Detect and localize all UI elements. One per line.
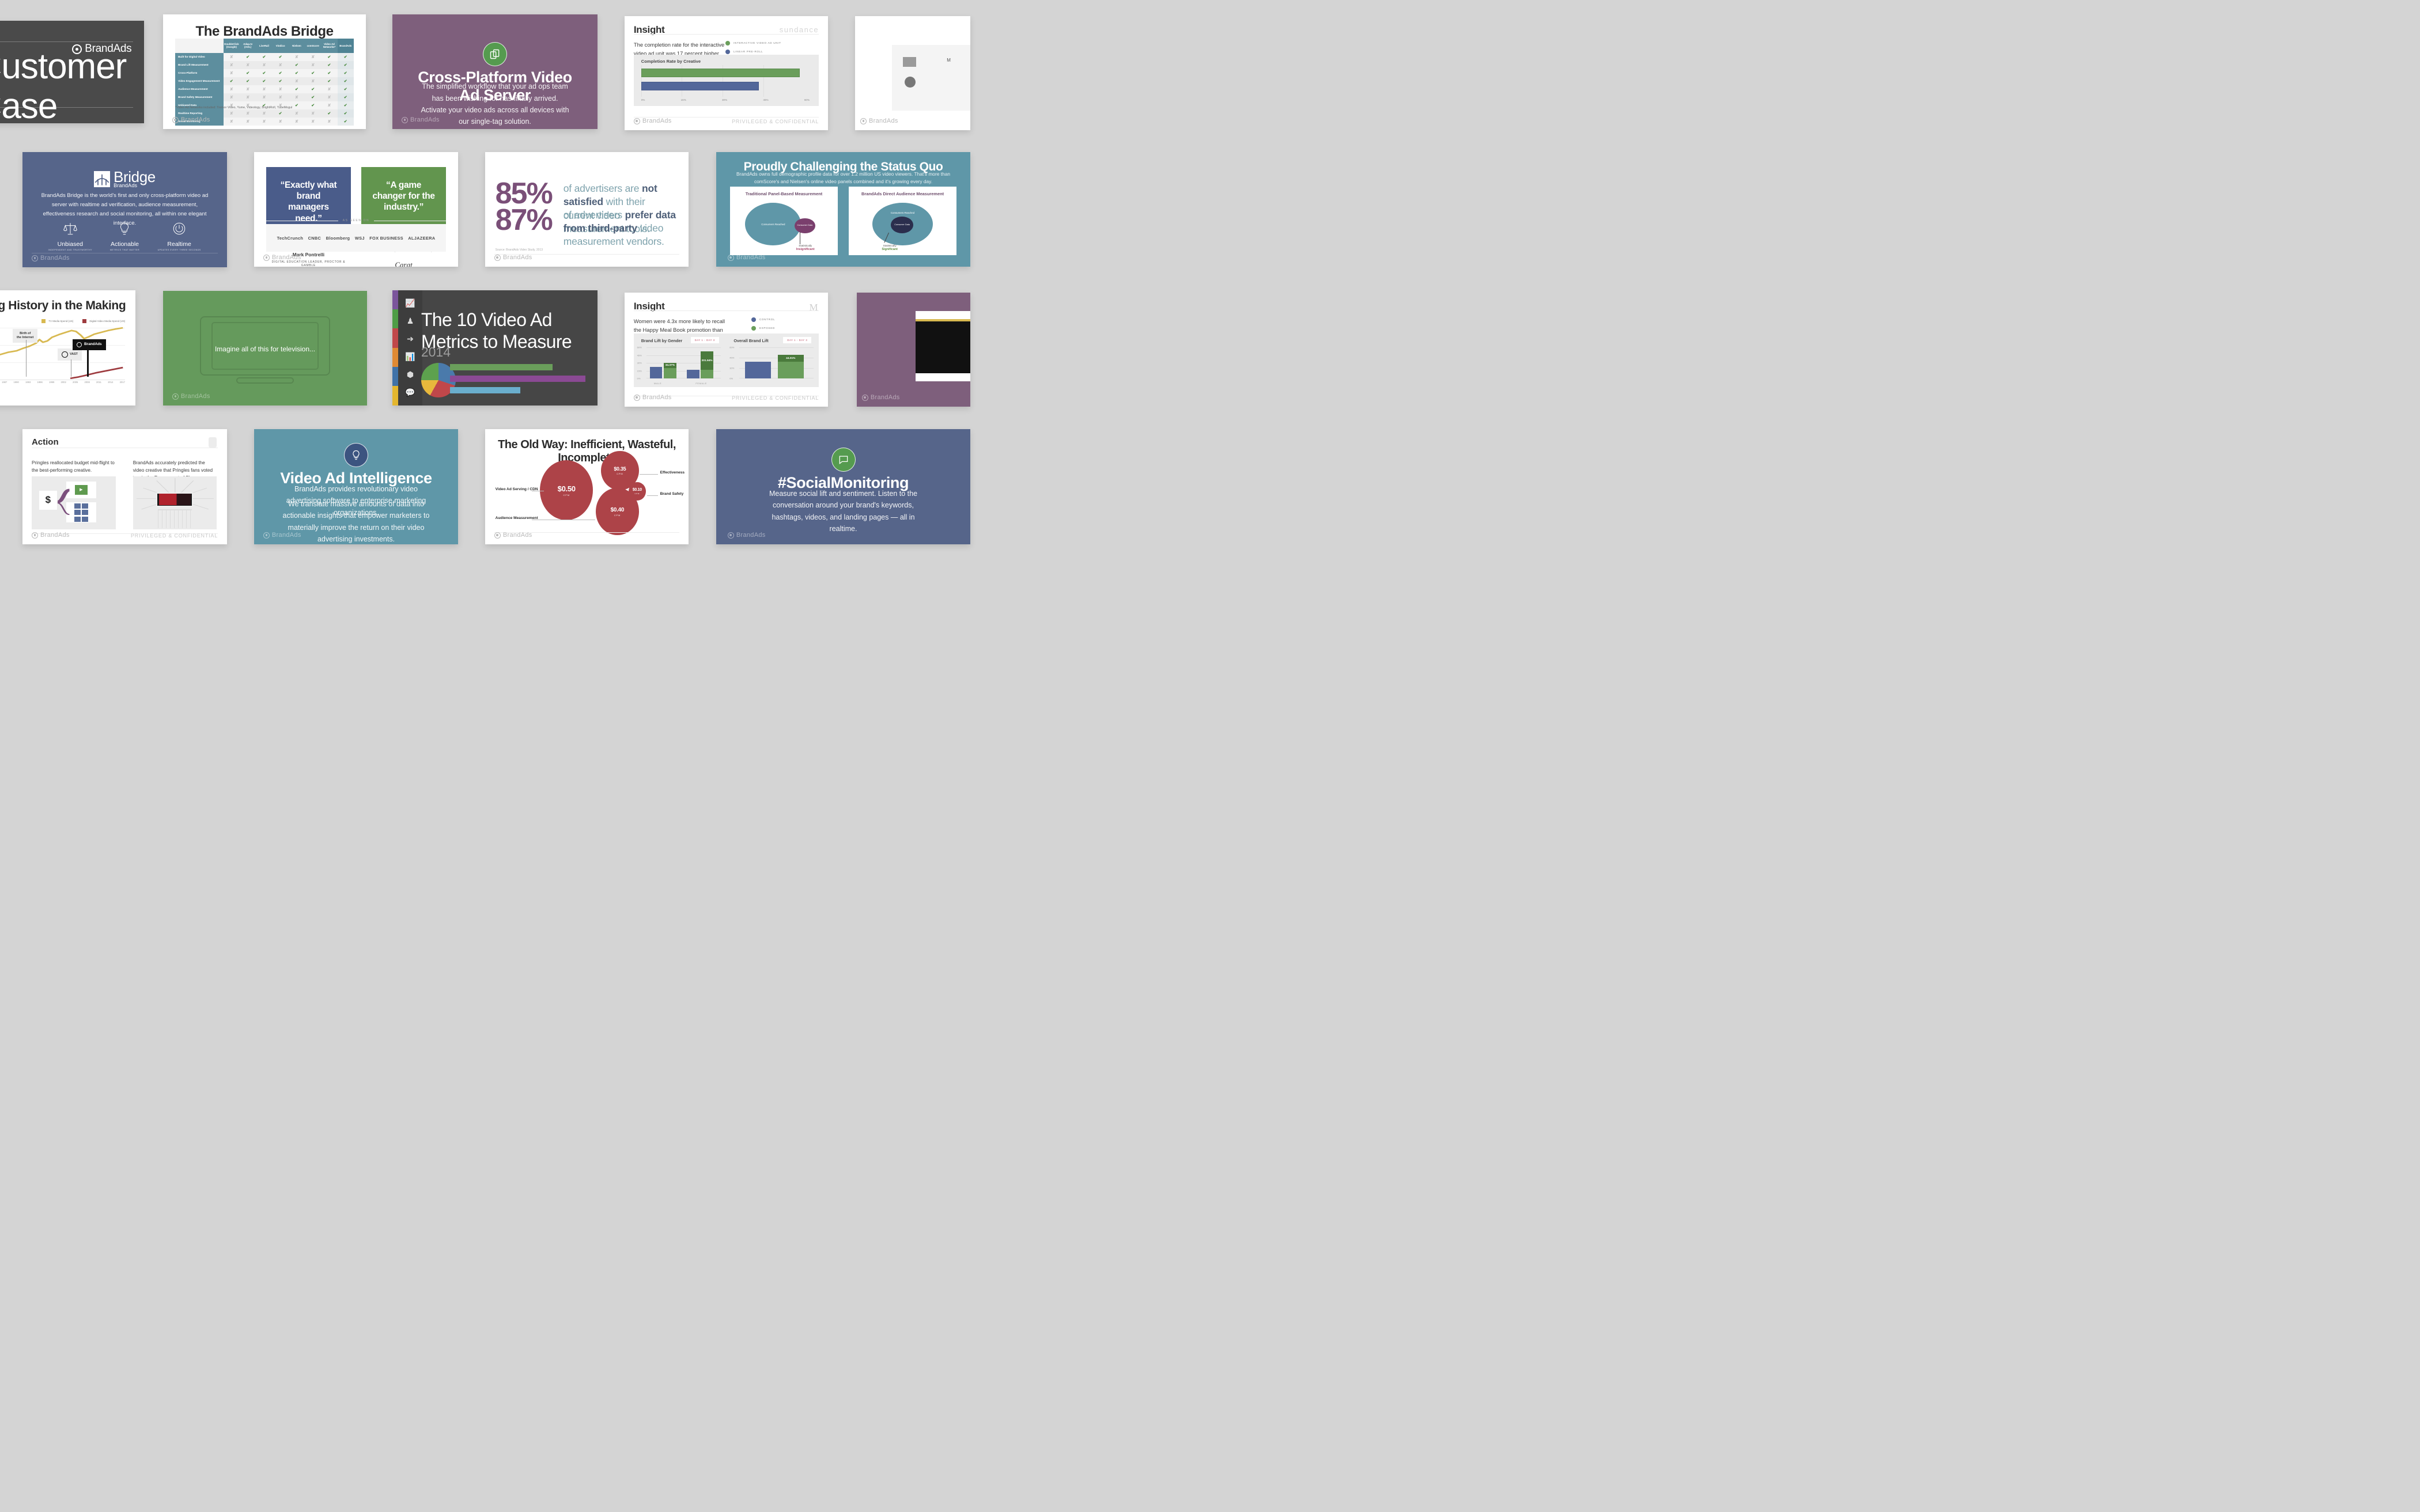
panel-text: M: [947, 58, 951, 63]
table-cell: ✔: [273, 69, 289, 77]
page-title: The Old Way: Inefficient, Wasteful, Inco…: [497, 438, 676, 465]
pillar-title: Realtime: [155, 241, 204, 248]
speech-bubble-icon: [831, 448, 856, 472]
bar-chart-icon[interactable]: 📊: [405, 352, 415, 362]
bubble-unit: CPM: [564, 494, 570, 497]
plot-area: 60% 45% 30% 15% 0% 34.37% 201.94%: [646, 347, 721, 378]
check-icon: ✔: [295, 71, 298, 75]
brandads-ring-icon: [634, 118, 640, 124]
axis-tick: 0%: [641, 98, 645, 101]
stat-text: of advertisers prefer data from third-pa…: [564, 206, 676, 249]
budget-reallocation-illustration: $ ▶: [32, 476, 116, 529]
table-cell: ✘: [256, 93, 272, 101]
table-cell: ✔: [256, 53, 272, 61]
slide-thumbnail-video-ad-intelligence[interactable]: Video Ad Intelligence BrandAds provides …: [254, 429, 458, 544]
cross-icon: ✘: [230, 120, 233, 124]
date-range-badge[interactable]: DAY 1 - DAY 3: [691, 337, 719, 343]
cross-icon: ✘: [279, 88, 282, 92]
shield-icon[interactable]: ⬢: [407, 370, 414, 380]
panel-brandads-direct: BrandAds Direct Audience Measurement Con…: [849, 187, 956, 255]
check-icon: ✔: [311, 104, 315, 108]
axis-tick: 45%: [763, 98, 768, 101]
legend-label: TV Media Spend (US): [48, 320, 73, 323]
table-row-label: Video Engagement Measurement: [175, 77, 224, 85]
slide-thumbnail-bridge[interactable]: Bridge BrandAds BrandAds Bridge is the w…: [22, 152, 227, 267]
cross-icon: ✘: [230, 71, 233, 75]
brandads-ring-icon: [728, 255, 734, 261]
cross-icon: ✘: [246, 88, 249, 92]
bar-series-3: [450, 387, 520, 393]
slide-thumbnail-partial-right-row1[interactable]: M BrandAds: [855, 16, 970, 130]
slide-thumbnail-customer-quotes[interactable]: “Exactly what brand managers need.” Mark…: [254, 152, 458, 267]
footer-brand-label: BrandAds: [642, 118, 672, 124]
table-cell: ✔: [321, 53, 337, 61]
x-axis-ticks: 1969197219751978198119841987199019931996…: [0, 381, 125, 384]
pillar-actionable: Actionable METRICS THAT MATTER: [100, 221, 149, 251]
cross-icon: ✘: [328, 96, 331, 100]
brandads-ring-icon: [32, 532, 38, 539]
footer-brand-label: BrandAds: [736, 254, 766, 261]
table-header-row: DoubleClick (Google) Adap.tv (AOL) LiveR…: [175, 39, 354, 53]
chart-brand-lift-by-gender: Brand Lift by Gender DAY 1 - DAY 3 60% 4…: [634, 334, 727, 387]
slide-thumbnail-insight-sundance[interactable]: Insight sundance The completion rate for…: [625, 16, 828, 130]
check-icon: ✔: [344, 96, 347, 100]
table-cell: ✘: [273, 61, 289, 69]
screen-accent-bar: [916, 319, 970, 321]
table-cell: ✘: [305, 118, 321, 126]
footer-brand: BrandAds: [172, 393, 210, 400]
footer-brand-label: BrandAds: [642, 394, 672, 401]
note-line-2: Insignificant: [782, 248, 829, 252]
table-cell: ✔: [240, 53, 256, 61]
legend-swatch: [751, 326, 756, 331]
bar-overall-exposed: 44.01%: [778, 355, 804, 378]
axis-tick: 45%: [637, 354, 642, 357]
footer-confidential: PRIVILEGED & CONFIDENTIAL: [732, 395, 819, 401]
axis-tick: 2017: [120, 381, 125, 384]
cross-icon: ✘: [295, 55, 298, 59]
table-cell: ✔: [273, 77, 289, 85]
cursor-icon[interactable]: ➔: [407, 334, 414, 344]
footer-confidential: PRIVILEGED & CONFIDENTIAL: [732, 119, 819, 124]
axis-tick: 0%: [637, 377, 641, 380]
axis-tick: 45%: [729, 357, 734, 359]
table-row-label: Brand Safety Measurement: [175, 93, 224, 101]
footer-brand-label: BrandAds: [272, 532, 301, 539]
budget-flow-arrows: [32, 476, 116, 529]
footer-brand-label: BrandAds: [40, 532, 70, 539]
bar-overall-control: [745, 362, 771, 379]
table-row-label: Built for Digital Video: [175, 53, 224, 61]
table-cell: ✔: [338, 69, 354, 77]
axis-tick: 1987: [2, 381, 7, 384]
bubble-label: Effectiveness: [660, 471, 685, 475]
table-footnote: *Video Ad Networks included: Tremor Vide…: [175, 106, 292, 109]
axis-tick: 1999: [49, 381, 54, 384]
table-cell: ✘: [305, 109, 321, 118]
bubble-value: $0.10: [633, 488, 642, 492]
check-icon: ✔: [311, 88, 315, 92]
speech-bubble-icon[interactable]: 💬: [405, 388, 415, 397]
annotation-line-1: BrandAds: [84, 342, 102, 347]
legend-item: TV Media Spend (US): [41, 319, 73, 323]
table-cell: ✔: [338, 53, 354, 61]
table-row: Brand Safety Measurement✘✘✘✘✘✔✘✔: [175, 93, 354, 101]
table-cell: ✔: [289, 61, 305, 69]
plot-area: 60% 45% 30% 0% 44.01%: [739, 347, 814, 378]
check-icon: ✔: [230, 79, 233, 84]
client-logo: sundance: [780, 25, 819, 34]
cross-icon: ✘: [262, 96, 266, 100]
table-cell: ✘: [273, 118, 289, 126]
tournament-winner-illustration: [133, 476, 217, 529]
column-text: Pringles reallocated budget mid-flight t…: [32, 459, 116, 474]
axis-tick: 2008: [85, 381, 90, 384]
table-row: Built for Digital Video✘✔✔✔✘✘✔✔: [175, 53, 354, 61]
table-cell: ✘: [256, 61, 272, 69]
check-icon: ✔: [295, 104, 298, 108]
check-icon: ✔: [344, 55, 347, 59]
brandads-ring-icon: [263, 532, 270, 539]
table-row-label: Brand Lift Measurement: [175, 61, 224, 69]
table-header-blank: [175, 39, 224, 53]
check-icon: ✔: [279, 79, 282, 84]
date-range-badge[interactable]: DAY 1 - DAY 3: [783, 337, 811, 343]
slide-thumbnail-imagine-television[interactable]: Imagine all of this for television... Br…: [163, 291, 367, 406]
line-chart-plot: Birth of Cable TV Birth of the Internet …: [0, 326, 125, 380]
press-logo: TechCrunch: [277, 236, 304, 241]
footer-brand: BrandAds: [728, 254, 766, 261]
footer-brand: BrandAds: [634, 394, 672, 401]
table-cell: ✘: [224, 85, 240, 93]
person-icon[interactable]: ♟: [407, 316, 414, 326]
annotation-brandads: BrandAds: [73, 339, 106, 350]
video-thumb-icon: [903, 57, 916, 67]
slide-thumbnail-social-monitoring[interactable]: #SocialMonitoring Measure social lift an…: [716, 429, 970, 544]
consumer-data-bubble: Consumer Data: [795, 218, 815, 233]
check-icon: ✔: [344, 71, 347, 75]
bar-series-2: [450, 376, 585, 382]
comparison-table: DoubleClick (Google) Adap.tv (AOL) LiveR…: [175, 39, 354, 126]
table-cell: ✔: [289, 69, 305, 77]
table-cell: ✔: [338, 101, 354, 109]
cross-icon: ✘: [262, 63, 266, 67]
lightbulb-icon: [344, 443, 368, 467]
mcdonalds-arches-icon: M: [810, 302, 819, 313]
table-cell: ✔: [321, 61, 337, 69]
table-cell: ✘: [321, 118, 337, 126]
axis-tick: 1996: [37, 381, 43, 384]
scales-icon: [63, 221, 78, 236]
cross-icon: ✘: [311, 112, 315, 116]
table-cell: ✘: [224, 53, 240, 61]
table-cell: ✘: [224, 118, 240, 126]
bar-series: [641, 68, 810, 94]
axis-tick: 2002: [61, 381, 66, 384]
cross-icon: ✘: [279, 63, 282, 67]
slide-body-text: The simplified workflow that your ad ops…: [419, 81, 570, 127]
table-cell: ✔: [321, 77, 337, 85]
as-seen-on-label: AS SEEN ON: [266, 219, 446, 222]
table-cell: ✔: [321, 109, 337, 118]
page-title: Advertising History in the Making: [0, 299, 126, 313]
page-title: Action: [32, 437, 59, 447]
slide-thumbnail-advertising-history[interactable]: Advertising History in the Making TV Med…: [0, 290, 135, 406]
table-cell: ✔: [338, 77, 354, 85]
company-logo: Carat: [361, 260, 445, 267]
slide-body-text-2: We translate massive amounts of data int…: [281, 498, 432, 544]
panel-title: Traditional Panel-Based Measurement: [736, 191, 833, 196]
source-note: Source: BrandAds Video Study, 2013: [496, 248, 543, 252]
pedestal: [158, 509, 191, 528]
slide-thumbnail-10-video-ad-metrics[interactable]: 📈 ♟ ➔ 📊 ⬢ 💬 The 10 Video Ad Metrics to M…: [392, 290, 598, 406]
cross-icon: ✘: [246, 120, 249, 124]
line-chart-icon[interactable]: 📈: [405, 298, 415, 308]
bar-value-label: 44.01%: [778, 355, 804, 361]
television-stand: [236, 377, 293, 384]
axis-tick: 2011: [96, 381, 101, 384]
pillar-subtitle: METRICS THAT MATTER: [100, 249, 149, 251]
table-cell: ✘: [321, 85, 337, 93]
table-cell: ✔: [338, 93, 354, 101]
legend-item: EXPOSED: [751, 326, 775, 331]
table-row: Video Engagement Measurement✔✔✔✔✘✘✔✔: [175, 77, 354, 85]
brandads-ring-icon: [402, 117, 408, 123]
annotation-line-1: Birth of: [20, 332, 31, 335]
slide-thumbnail-insight-mcdonalds[interactable]: Insight M Women were 4.3x more likely to…: [625, 293, 828, 407]
annotation-line-2: VAST: [70, 353, 78, 357]
annotation-iab-vast: VAST: [58, 348, 82, 361]
press-logo: Bloomberg: [326, 236, 350, 241]
title-line-1: The 10 Video Ad: [421, 309, 552, 330]
color-rail: [392, 290, 398, 406]
pillar-title: Unbiased: [46, 241, 94, 248]
note-line-2: Significant: [866, 248, 913, 252]
cross-icon: ✘: [262, 88, 266, 92]
chart-title: Completion Rate by Creative: [641, 59, 701, 64]
significance-note: Statistically Insignificant: [782, 244, 829, 252]
bubble-label: Consumers Reached: [761, 223, 785, 226]
legend-swatch: [41, 319, 46, 323]
footer-brand: BrandAds: [634, 118, 672, 124]
check-icon: ✔: [344, 63, 347, 67]
page-title: Customer Case Studies: [0, 47, 130, 124]
cross-icon: ✘: [295, 112, 298, 116]
cross-icon: ✘: [262, 112, 266, 116]
cross-icon: ✘: [279, 120, 282, 124]
table-cell: ✔: [256, 69, 272, 77]
stat-row-87: 87% of advertisers prefer data from thir…: [496, 206, 676, 249]
legend-item: Digital Video Media Spend (US): [82, 319, 125, 323]
pillar-subtitle: INDEPENDENT AND TRUSTWORTHY: [46, 249, 94, 251]
table-cell: ✔: [338, 118, 354, 126]
cross-icon: ✘: [311, 120, 315, 124]
check-icon: ✔: [295, 88, 298, 92]
table-cell: ✔: [256, 77, 272, 85]
line-digital-video-spend: [70, 367, 123, 378]
table-row: Brand Lift Measurement✘✘✘✘✔✘✔✔: [175, 61, 354, 69]
table-cell: ✔: [305, 85, 321, 93]
action-column-left: Pringles reallocated budget mid-flight t…: [32, 459, 116, 474]
divider-top: [0, 41, 133, 42]
slide-thumbnail-status-quo[interactable]: Proudly Challenging the Status Quo Brand…: [716, 152, 970, 267]
bubble-label: Audience Measurement: [496, 516, 538, 520]
table-cell: ✔: [305, 101, 321, 109]
table-cell: ✔: [338, 109, 354, 118]
slide-thumbnail-partial-right-row3[interactable]: BrandAds: [857, 293, 970, 407]
legend-swatch: [725, 50, 730, 54]
footer-brand: BrandAds: [862, 394, 900, 401]
table-cell: ✘: [289, 53, 305, 61]
bar-interactive-video-ad-unit: [641, 69, 800, 77]
cross-icon: ✘: [230, 88, 233, 92]
table-header-cell: Video Ad Networks*: [321, 39, 337, 53]
axis-tick: 30%: [722, 98, 727, 101]
footer-brand-label: BrandAds: [40, 255, 70, 262]
quote-text: “A game changer for the industry.”: [361, 167, 445, 226]
footer-brand-label: BrandAds: [503, 532, 532, 539]
slide-thumbnail-the-old-way[interactable]: The Old Way: Inefficient, Wasteful, Inco…: [485, 429, 689, 544]
legend-label: Digital Video Media Spend (US): [89, 320, 125, 323]
bubble-label: Consumer Data: [894, 223, 910, 226]
slide-thumbnail-cross-platform-video-ad-server[interactable]: Cross-Platform Video Ad Server The simpl…: [392, 14, 598, 129]
check-icon: ✔: [344, 112, 347, 116]
axis-tick: 2005: [73, 381, 78, 384]
check-icon: ✔: [279, 55, 282, 59]
footer-brand: BrandAds: [172, 116, 210, 123]
stat-text-pre: of advertisers: [564, 209, 625, 221]
bubble-label: Video Ad Serving / CDN: [496, 487, 538, 491]
footer-brand: BrandAds: [32, 255, 70, 262]
bubble-unit: CPM: [614, 514, 621, 517]
legend-item: LINEAR PRE-ROLL: [725, 50, 781, 54]
footer-brand-label: BrandAds: [410, 116, 440, 123]
table-row: Audience Measurement✘✘✘✘✔✔✘✔: [175, 85, 354, 93]
table-cell: ✘: [224, 93, 240, 101]
table-cell: ✘: [321, 101, 337, 109]
check-icon: ✔: [246, 71, 249, 75]
divider: [634, 310, 819, 311]
footer-brand: BrandAds: [494, 532, 532, 539]
brandads-ring-icon: [634, 395, 640, 401]
cross-icon: ✘: [230, 55, 233, 59]
legend-swatch: [725, 41, 730, 46]
table-header-cell: BrandAds: [338, 39, 354, 53]
phone-screen: [916, 319, 970, 373]
check-icon: ✔: [344, 120, 347, 124]
check-icon: ✔: [279, 112, 282, 116]
cross-icon: ✘: [246, 63, 249, 67]
lightbulb-icon: [117, 221, 132, 236]
table-cell: ✔: [240, 69, 256, 77]
note-line-1: Statistically: [883, 244, 897, 247]
footer-brand: BrandAds: [402, 116, 440, 123]
brandads-ring-icon: [862, 395, 868, 401]
cross-icon: ✘: [295, 120, 298, 124]
slide-thumbnail-customer-case-studies[interactable]: BrandAds Customer Case Studies: [0, 21, 144, 123]
slide-thumbnail-bridge-advantage[interactable]: The BrandAds Bridge Advantage DoubleClic…: [163, 14, 366, 129]
brandads-ring-icon: [494, 255, 501, 261]
brandads-ring-icon: [728, 532, 734, 539]
axis-tick: 30%: [729, 367, 734, 370]
pillar-list: Unbiased INDEPENDENT AND TRUSTWORTHY Act…: [43, 221, 207, 251]
chart-title: Brand Lift by Gender: [641, 338, 682, 343]
axis-tick: 60%: [804, 98, 810, 101]
footer-brand-label: BrandAds: [736, 532, 766, 539]
check-icon: ✔: [328, 55, 331, 59]
consumer-data-bubble: Consumer Data: [891, 217, 913, 233]
slide-thumbnail-advertiser-stats[interactable]: 85% of advertisers are not satisfied wit…: [485, 152, 689, 267]
table-cell: ✘: [240, 118, 256, 126]
check-icon: ✔: [262, 71, 266, 75]
press-logo: CNBC: [308, 236, 322, 241]
legend-item: INTERACTIVE VIDEO AD UNIT: [725, 41, 781, 46]
significance-note: Statistically Significant: [866, 244, 913, 252]
content-panel: M: [892, 45, 970, 111]
check-icon: ✔: [262, 55, 266, 59]
table-cell: ✘: [289, 118, 305, 126]
table-header-cell: DoubleClick (Google): [224, 39, 240, 53]
table-cell: ✘: [256, 109, 272, 118]
pillar-unbiased: Unbiased INDEPENDENT AND TRUSTWORTHY: [46, 221, 94, 251]
stat-text-pre: of advertisers are: [564, 183, 642, 194]
footer-brand-label: BrandAds: [871, 394, 900, 401]
annotation-line-2: the Internet: [17, 336, 33, 339]
slide-thumbnail-action-pringles[interactable]: Action Pringles reallocated budget mid-f…: [22, 429, 227, 544]
table-cell: ✘: [256, 85, 272, 93]
legend-label: INTERACTIVE VIDEO AD UNIT: [733, 41, 781, 44]
bridge-mark-icon: [94, 171, 110, 187]
slide-body-text: Imagine all of this for television...: [183, 345, 346, 353]
bubble-unit: CPM: [635, 492, 640, 495]
pillar-title: Actionable: [100, 241, 149, 248]
check-icon: ✔: [344, 88, 347, 92]
axis-tick: 2014: [108, 381, 113, 384]
axis-tick: MALE: [654, 382, 661, 385]
slide-subtitle: BrandAds owns full demographic profile d…: [734, 170, 952, 185]
chart-legend: TV Media Spend (US) Digital Video Media …: [41, 319, 125, 323]
check-icon: ✔: [246, 55, 249, 59]
table-cell: ✔: [273, 53, 289, 61]
legend-swatch: [751, 317, 756, 322]
bar-value-label: 34.37%: [664, 363, 676, 367]
cross-icon: ✘: [311, 55, 315, 59]
bubble-unit: CPM: [617, 472, 623, 475]
cross-icon: ✘: [230, 63, 233, 67]
consumers-reached-bubble: Consumers Reached: [745, 203, 801, 245]
table-header-cell: comScore: [305, 39, 321, 53]
cross-icon: ✘: [246, 112, 249, 116]
check-icon: ✔: [328, 79, 331, 84]
quote-role: DIGITAL EDUCATION LEADER, PROCTOR & GAMB…: [266, 260, 350, 267]
table-cell: ✘: [224, 61, 240, 69]
table-cell: ✔: [224, 77, 240, 85]
panel-traditional-panel-based: Traditional Panel-Based Measurement Cons…: [730, 187, 837, 255]
copy-layers-icon: [483, 42, 507, 66]
chart-legend: CONTROL EXPOSED: [751, 317, 775, 335]
cross-icon: ✘: [311, 63, 315, 67]
press-logo: ALJAZEERA: [408, 236, 435, 241]
table-cell: ✘: [224, 69, 240, 77]
pillar-realtime: Realtime UPDATES EVERY THREE SECONDS: [155, 221, 204, 251]
press-logo: WSJ: [355, 236, 365, 241]
bubble-label: Brand Safety: [660, 492, 684, 496]
note-line-1: Statistically: [799, 244, 812, 247]
bubble-value: $0.40: [611, 507, 625, 513]
chart-panel: Completion Rate by Creative 0% 15% 30% 4…: [634, 55, 819, 106]
chart-title: Overall Brand Lift: [733, 338, 768, 343]
check-icon: ✔: [279, 71, 282, 75]
